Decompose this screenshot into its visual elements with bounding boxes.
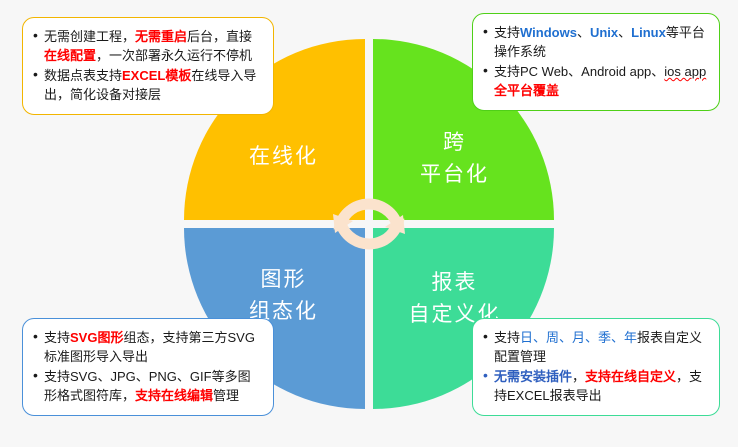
text-segment: 、 (577, 25, 590, 40)
list-item: 支持SVG图形组态，支持第三方SVG标准图形导入导出 (31, 328, 263, 366)
quadrant-label-online: 在线化 (202, 141, 365, 173)
text-segment: 支持PC Web、Android app、 (494, 64, 664, 79)
text-segment-highlight: 无需安装插件 (494, 369, 572, 384)
text-segment: 支持 (494, 25, 520, 40)
feature-list-reports: 支持日、周、月、季、年报表自定义配置管理 无需安装插件，支持在线自定义，支持EX… (481, 328, 709, 405)
list-item: 无需创建工程，无需重启后台，直接在线配置，一次部署永久运行不停机 (31, 27, 263, 65)
text-segment-highlight: SVG图形 (70, 330, 123, 345)
text-segment: 管理 (213, 388, 239, 403)
infographic-canvas: 在线化 跨 平台化 图形 组态化 报表 自定义化 无需创建工程，无需重启后台，直… (0, 0, 738, 447)
text-segment-highlight: 全平台覆盖 (494, 83, 559, 98)
text-segment: 支持 (494, 330, 520, 345)
list-item: 支持Windows、Unix、Linux等平台操作系统 (481, 23, 709, 61)
text-segment: ，一次部署永久运行不停机 (96, 48, 252, 63)
text-segment-highlight: 日、周、月、季、年 (520, 330, 637, 345)
text-segment: 数据点表支持 (44, 68, 122, 83)
list-item: 支持日、周、月、季、年报表自定义配置管理 (481, 328, 709, 366)
text-segment-highlight: 无需重启 (135, 29, 187, 44)
feature-list-graphics: 支持SVG图形组态，支持第三方SVG标准图形导入导出 支持SVG、JPG、PNG… (31, 328, 263, 405)
text-segment-highlight: EXCEL模板 (122, 68, 191, 83)
text-segment-highlight: Windows (520, 25, 577, 40)
text-segment: 、 (618, 25, 631, 40)
text-segment: ， (572, 369, 585, 384)
text-segment: 后台，直接 (187, 29, 252, 44)
list-item: 无需安装插件，支持在线自定义，支持EXCEL报表导出 (481, 367, 709, 405)
text-segment-highlight: Unix (590, 25, 618, 40)
feature-list-online: 无需创建工程，无需重启后台，直接在线配置，一次部署永久运行不停机 数据点表支持E… (31, 27, 263, 104)
text-segment: 支持 (44, 330, 70, 345)
text-segment-highlight: Linux (631, 25, 666, 40)
card-cross-platform-features: 支持Windows、Unix、Linux等平台操作系统 支持PC Web、And… (472, 13, 720, 111)
card-online-features: 无需创建工程，无需重启后台，直接在线配置，一次部署永久运行不停机 数据点表支持E… (22, 17, 274, 115)
list-item: 支持PC Web、Android app、ios app全平台覆盖 (481, 62, 709, 100)
list-item: 支持SVG、JPG、PNG、GIF等多图形格式图符库，支持在线编辑管理 (31, 367, 263, 405)
list-item: 数据点表支持EXCEL模板在线导入导出，简化设备对接层 (31, 66, 263, 104)
quadrant-label-cross-platform: 跨 平台化 (373, 127, 536, 191)
card-reports-features: 支持日、周、月、季、年报表自定义配置管理 无需安装插件，支持在线自定义，支持EX… (472, 318, 720, 416)
text-segment-highlight: 支持在线编辑 (135, 388, 213, 403)
card-graphics-features: 支持SVG图形组态，支持第三方SVG标准图形导入导出 支持SVG、JPG、PNG… (22, 318, 274, 416)
text-segment: 无需创建工程， (44, 29, 135, 44)
text-segment-spellcheck: ios app (664, 64, 706, 79)
text-segment-highlight: 在线配置 (44, 48, 96, 63)
feature-list-cross-platform: 支持Windows、Unix、Linux等平台操作系统 支持PC Web、And… (481, 23, 709, 100)
text-segment-highlight: 支持在线自定义 (585, 369, 676, 384)
